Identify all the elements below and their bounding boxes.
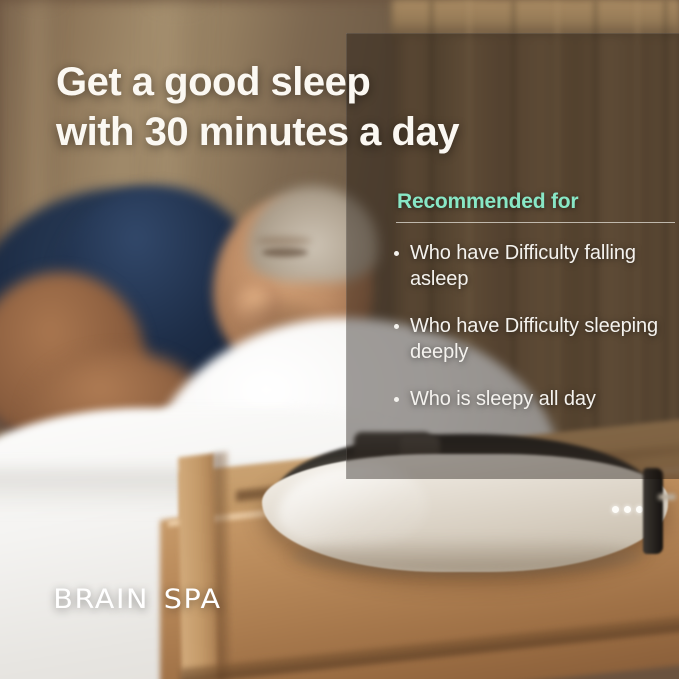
bullet-dot-icon — [394, 251, 399, 256]
sleeper-brow — [256, 237, 312, 245]
list-item-label: Who have Difficulty sleeping deeply — [410, 315, 658, 363]
brand-logo: Brain SPA — [58, 576, 217, 615]
page-title: Get a good sleep with 30 minutes a day — [56, 57, 656, 157]
advertisement-canvas: Get a good sleep with 30 minutes a day R… — [0, 0, 679, 679]
device-end-cap — [643, 468, 663, 554]
list-item-label: Who is sleepy all day — [410, 388, 596, 410]
recommended-divider — [396, 222, 675, 223]
list-item: Who have Difficulty falling asleep — [394, 241, 679, 292]
list-item: Who is sleepy all day — [394, 387, 679, 413]
device-led-indicators — [612, 506, 643, 513]
device-lower-shading — [292, 536, 642, 574]
sleeper-closed-eye — [262, 248, 308, 257]
led-indicator-icon — [636, 506, 643, 513]
led-indicator-icon — [612, 506, 619, 513]
bullet-dot-icon — [394, 397, 399, 402]
list-item-label: Who have Difficulty falling asleep — [410, 242, 636, 290]
brand-logo-text: Brain SPA — [53, 576, 221, 615]
nightstand-side-stile — [178, 453, 218, 679]
panel-top-edge — [346, 33, 679, 34]
recommended-list: Who have Difficulty falling asleep Who h… — [394, 241, 679, 413]
led-indicator-icon — [624, 506, 631, 513]
recommended-for-heading: Recommended for — [397, 190, 578, 214]
list-item: Who have Difficulty sleeping deeply — [394, 314, 679, 365]
device-cable-stub — [658, 494, 676, 500]
bullet-dot-icon — [394, 324, 399, 329]
